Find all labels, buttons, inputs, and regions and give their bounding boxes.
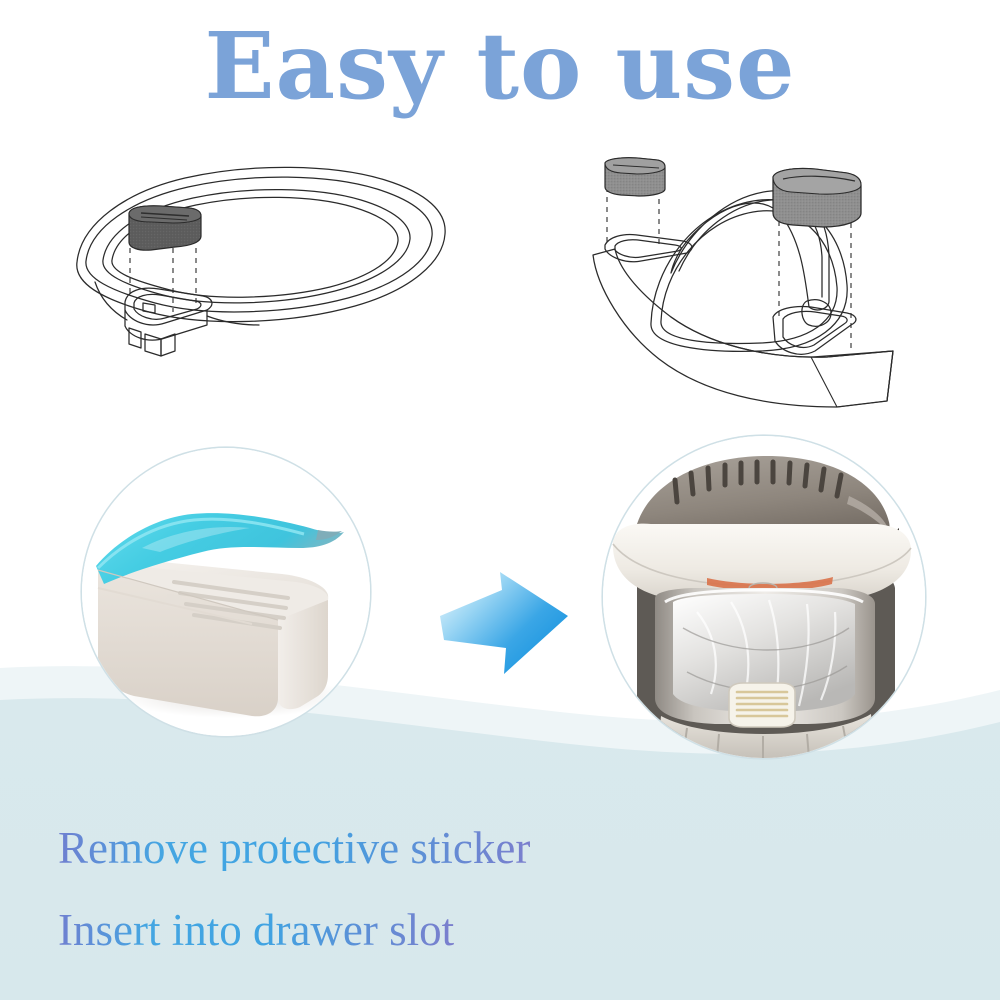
page-title: Easy to use (0, 18, 1000, 115)
photo-cartridge-peel-art (82, 448, 370, 736)
caption-remove-sticker: Remove protective sticker (58, 826, 530, 871)
clip-tab-2 (145, 334, 161, 356)
infographic-canvas: Easy to use (0, 0, 1000, 1000)
arch-foot-knob (802, 300, 831, 327)
slot-right-outer (773, 306, 856, 354)
slot-left-inner (615, 240, 681, 258)
arrow-shape (440, 572, 568, 674)
diagram-seat-side-view (575, 145, 985, 415)
cavity-hole-left (143, 303, 155, 313)
diagram-toilet-rim-top-view (55, 150, 455, 400)
caption-insert-slot: Insert into drawer slot (58, 908, 454, 953)
cartridge-block-right (773, 168, 861, 227)
cavity-front-face (125, 310, 207, 340)
base-plate (593, 249, 893, 407)
photo-cartridge-peel (82, 448, 370, 736)
rim-right-thickness (207, 316, 259, 325)
dome-inner (661, 211, 837, 344)
step-arrow-icon (440, 568, 600, 678)
inserted-cartridge (729, 683, 795, 727)
cartridge-block-left (605, 158, 665, 196)
base-panel-right (811, 351, 893, 407)
photo-pail-drawer-slot (603, 436, 925, 758)
photo-pail-drawer-slot-art (603, 436, 925, 758)
base-plate-edge (671, 317, 893, 401)
cartridge-block (129, 206, 201, 250)
